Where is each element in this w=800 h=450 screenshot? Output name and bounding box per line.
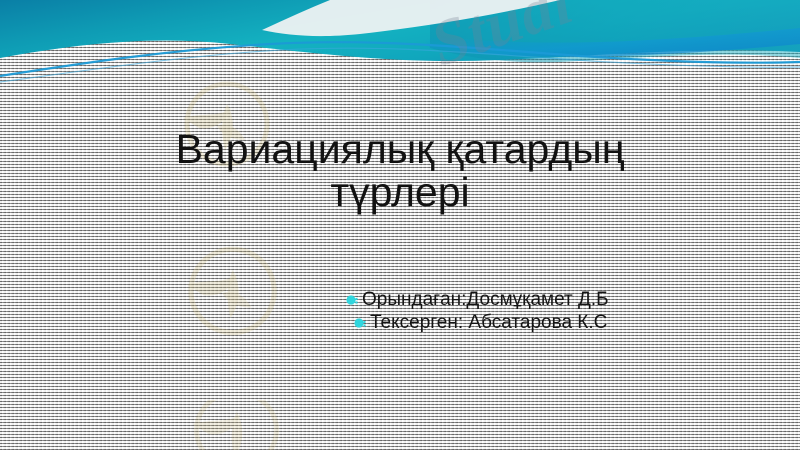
list-item[interactable]: Орындаған:Досмұқамет Д.Б <box>346 289 766 311</box>
slide-bullet-list: Орындаған:Досмұқамет Д.Б Тексерген: Абса… <box>346 289 766 335</box>
diamond-bullet-icon <box>354 315 368 331</box>
list-item-label: Орындаған:Досмұқамет Д.Б <box>362 290 609 310</box>
diamond-bullet-icon <box>346 292 360 308</box>
list-item[interactable]: Тексерген: Абсатарова К.С <box>346 312 766 334</box>
presentation-slide: Studi Вариациялық қатардың түрлері Орынд… <box>0 0 800 450</box>
list-item-label: Тексерген: Абсатарова К.С <box>370 313 607 333</box>
header-wave-graphic <box>0 0 800 90</box>
slide-title: Вариациялық қатардың түрлері <box>60 128 740 215</box>
